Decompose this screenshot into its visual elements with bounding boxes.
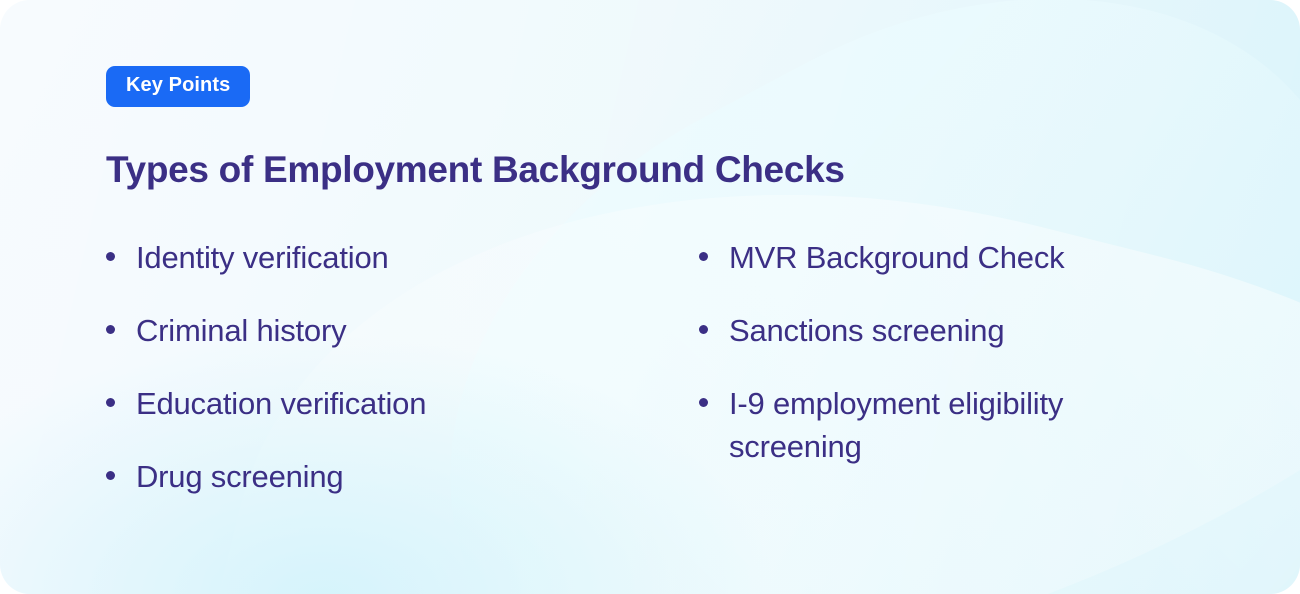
key-points-badge: Key Points xyxy=(106,66,250,107)
list-item-label: Drug screening xyxy=(136,456,343,499)
list-item-label: Criminal history xyxy=(136,310,346,353)
list-item-label: I-9 employment eligibility screening xyxy=(729,383,1159,469)
right-column: MVR Background Check Sanctions screening… xyxy=(661,237,1216,528)
list-item: I-9 employment eligibility screening xyxy=(699,383,1216,469)
bullet-icon xyxy=(699,398,708,407)
bullet-icon xyxy=(106,398,115,407)
list-item: Education verification xyxy=(106,383,661,426)
list-item: Criminal history xyxy=(106,310,661,353)
bullet-icon xyxy=(106,471,115,480)
card-content: Key Points Types of Employment Backgroun… xyxy=(0,0,1300,529)
bullet-icon xyxy=(699,325,708,334)
list-item: Drug screening xyxy=(106,456,661,499)
list-item: Sanctions screening xyxy=(699,310,1216,353)
list-item-label: Sanctions screening xyxy=(729,310,1004,353)
list-item-label: Identity verification xyxy=(136,237,389,280)
page-title: Types of Employment Background Checks xyxy=(106,149,1300,190)
list-item-label: Education verification xyxy=(136,383,426,426)
left-column: Identity verification Criminal history E… xyxy=(106,237,661,528)
bullet-columns: Identity verification Criminal history E… xyxy=(106,237,1216,528)
key-points-card: Key Points Types of Employment Backgroun… xyxy=(0,0,1300,594)
bullet-icon xyxy=(106,252,115,261)
list-item: Identity verification xyxy=(106,237,661,280)
list-item: MVR Background Check xyxy=(699,237,1216,280)
list-item-label: MVR Background Check xyxy=(729,237,1064,280)
bullet-icon xyxy=(106,325,115,334)
bullet-icon xyxy=(699,252,708,261)
